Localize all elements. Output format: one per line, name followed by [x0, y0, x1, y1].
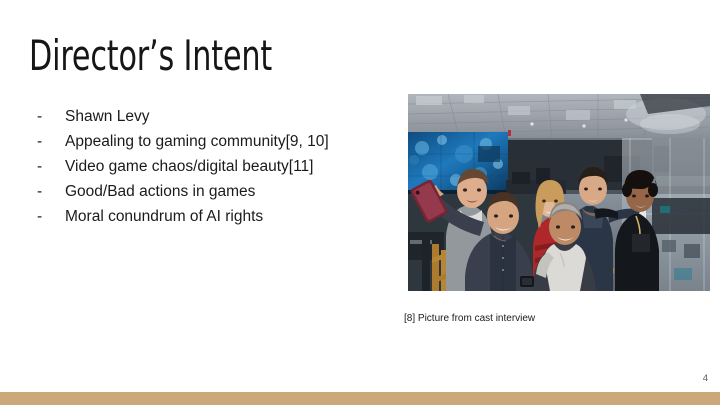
- list-item-label: Good/Bad actions in games: [65, 179, 255, 204]
- list-item: - Shawn Levy: [37, 104, 402, 129]
- bullet-dash-icon: -: [37, 104, 65, 129]
- list-item: - Good/Bad actions in games: [37, 179, 402, 204]
- footer-bar: [0, 392, 720, 405]
- list-item: - Video game chaos/digital beauty[11]: [37, 154, 402, 179]
- bullet-dash-icon: -: [37, 129, 65, 154]
- bullet-dash-icon: -: [37, 154, 65, 179]
- list-item: - Appealing to gaming community[9, 10]: [37, 129, 402, 154]
- bullet-dash-icon: -: [37, 179, 65, 204]
- page-number: 4: [703, 373, 708, 384]
- photo-figure: [408, 94, 710, 291]
- list-item-label: Moral conundrum of AI rights: [65, 204, 263, 229]
- page-title: Director’s Intent: [29, 32, 272, 80]
- list-item: - Moral conundrum of AI rights: [37, 204, 402, 229]
- list-item-label: Appealing to gaming community[9, 10]: [65, 129, 329, 154]
- bullet-dash-icon: -: [37, 204, 65, 229]
- slide: Director’s Intent - Shawn Levy - Appeali…: [0, 0, 720, 405]
- photo-caption: [8] Picture from cast interview: [404, 313, 535, 324]
- list-item-label: Video game chaos/digital beauty[11]: [65, 154, 313, 179]
- cast-interview-photo: [408, 94, 710, 291]
- list-item-label: Shawn Levy: [65, 104, 149, 129]
- bullet-list: - Shawn Levy - Appealing to gaming commu…: [37, 104, 402, 229]
